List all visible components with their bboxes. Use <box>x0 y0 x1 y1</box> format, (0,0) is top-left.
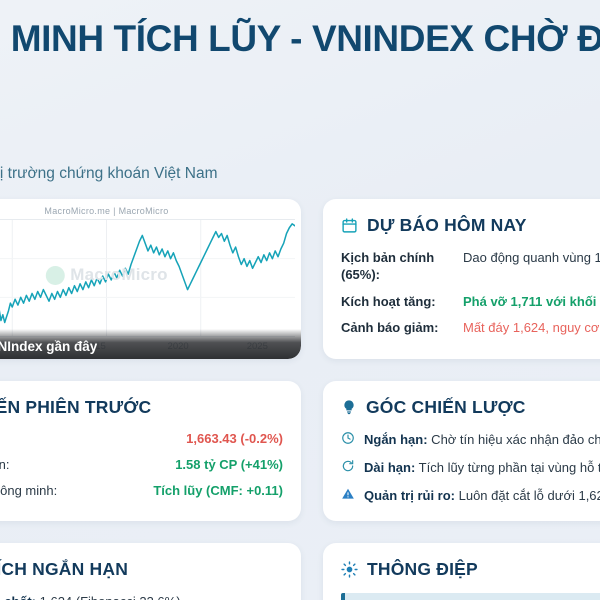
forecast-row-bull-trigger: Kích hoạt tăng: Phá vỡ 1,711 với khối lư… <box>341 293 600 311</box>
poster-header: BÌNH MINH TÍCH LŨY - VNINDEX CHỜ ĐỢI BỨT… <box>0 18 600 183</box>
message-card: THÔNG ĐIỆP "Sau những phiên sóng lặng, t… <box>323 543 600 600</box>
session-card-title: DIỄN BIẾN PHIÊN TRƯỚC <box>0 397 283 418</box>
strategy-row-short-term: Ngắn hạn: Chờ tín hiệu xác nhận đảo chiề… <box>341 431 600 449</box>
infographic-poster: BÌNH MINH TÍCH LŨY - VNINDEX CHỜ ĐỢI BỨT… <box>0 0 600 600</box>
sun-icon <box>341 561 358 578</box>
chart-caption: Diễn biến VNIndex gần đây <box>0 329 301 359</box>
clock-icon <box>341 431 355 445</box>
strategy-card: GÓC CHIẾN LƯỢC Ngắn hạn: Chờ tín hiệu xá… <box>323 381 600 521</box>
message-quote: "Sau những phiên sóng lặng, thị trường đ… <box>341 593 600 600</box>
calendar-icon <box>341 217 358 234</box>
vnindex-line-chart <box>0 220 295 336</box>
page-title: BÌNH MINH TÍCH LŨY - VNINDEX CHỜ ĐỢI BỨT… <box>0 18 600 147</box>
session-title-text: DIỄN BIẾN PHIÊN TRƯỚC <box>0 397 151 418</box>
strategy-row-long-term: Dài hạn: Tích lũy từng phần tại vùng hỗ … <box>341 459 600 477</box>
chart-card: MacroMicro.me | MacroMicro MacroMicro <box>0 199 301 359</box>
analysis-card-title: PHÂN TÍCH NGẮN HẠN <box>0 559 283 580</box>
session-row-smart-money: Dòng tiền thông minh: Tích lũy (CMF: +0.… <box>0 483 283 498</box>
analysis-label-0: Hỗ trợ then chốt: <box>0 594 36 600</box>
forecast-value-1: Phá vỡ 1,711 với khối lượng lớn <box>463 293 600 311</box>
message-title-text: THÔNG ĐIỆP <box>367 559 478 580</box>
message-card-title: THÔNG ĐIỆP <box>341 559 600 580</box>
previous-session-card: DIỄN BIẾN PHIÊN TRƯỚC Đóng cửa: 1,663.43… <box>0 381 301 521</box>
forecast-label-0: Kịch bản chính (65%): <box>341 249 453 284</box>
strategy-label-2: Quản trị rủi ro: <box>364 488 455 503</box>
session-label-2: Dòng tiền thông minh: <box>0 483 57 498</box>
strategy-text-1: Dài hạn: Tích lũy từng phần tại vùng hỗ … <box>364 459 600 477</box>
strategy-body-1: Tích lũy từng phần tại vùng hỗ trợ mạnh <box>415 460 600 475</box>
strategy-row-risk: Quản trị rủi ro: Luôn đặt cắt lỗ dưới 1,… <box>341 487 600 505</box>
session-label-1: Thanh khoản: <box>0 457 10 472</box>
forecast-card-title: DỰ BÁO HÔM NAY <box>341 215 600 236</box>
session-value-0: 1,663.43 (-0.2%) <box>186 431 283 446</box>
session-value-1: 1.58 tỷ CP (+41%) <box>175 457 283 472</box>
forecast-card: DỰ BÁO HÔM NAY Kịch bản chính (65%): Dao… <box>323 199 600 359</box>
analysis-row-support: Hỗ trợ then chốt: 1,624 (Fibonacci 23.6%… <box>0 593 283 600</box>
chart-plot-area: MacroMicro <box>0 219 295 337</box>
analysis-title-text: PHÂN TÍCH NGẮN HẠN <box>0 559 128 580</box>
session-value-2: Tích lũy (CMF: +0.11) <box>153 483 283 498</box>
forecast-label-2: Cảnh báo giảm: <box>341 319 453 337</box>
forecast-title-text: DỰ BÁO HÔM NAY <box>367 215 527 236</box>
forecast-value-0: Dao động quanh vùng 1,640 - 1,680 <box>463 249 600 267</box>
strategy-text-0: Ngắn hạn: Chờ tín hiệu xác nhận đảo chiề… <box>364 431 600 449</box>
warning-triangle-icon <box>341 487 355 501</box>
forecast-label-1: Kích hoạt tăng: <box>341 293 453 311</box>
strategy-card-title: GÓC CHIẾN LƯỢC <box>341 397 600 418</box>
lightbulb-icon <box>341 399 357 415</box>
session-row-liquidity: Thanh khoản: 1.58 tỷ CP (+41%) <box>0 457 283 472</box>
card-grid: MacroMicro.me | MacroMicro MacroMicro <box>0 199 600 600</box>
short-term-analysis-card: PHÂN TÍCH NGẮN HẠN Hỗ trợ then chốt: 1,6… <box>0 543 301 600</box>
strategy-body-2: Luôn đặt cắt lỗ dưới 1,620 <box>455 488 600 503</box>
forecast-value-2: Mất đáy 1,624, nguy cơ về 1,600 <box>463 319 600 337</box>
strategy-label-0: Ngắn hạn: <box>364 432 428 447</box>
session-row-close: Đóng cửa: 1,663.43 (-0.2%) <box>0 431 283 446</box>
refresh-icon <box>341 459 355 473</box>
forecast-row-main-scenario: Kịch bản chính (65%): Dao động quanh vùn… <box>341 249 600 284</box>
chart-source-label: MacroMicro.me | MacroMicro <box>0 199 301 219</box>
strategy-text-2: Quản trị rủi ro: Luôn đặt cắt lỗ dưới 1,… <box>364 487 600 505</box>
page-subtitle: Nhận định thị trường chứng khoán Việt Na… <box>0 165 600 183</box>
analysis-body-0: 1,624 (Fibonacci 23.6%) <box>36 594 181 600</box>
forecast-row-bear-warning: Cảnh báo giảm: Mất đáy 1,624, nguy cơ về… <box>341 319 600 337</box>
strategy-body-0: Chờ tín hiệu xác nhận đảo chiều trên 1,6… <box>428 432 600 447</box>
strategy-title-text: GÓC CHIẾN LƯỢC <box>366 397 526 418</box>
strategy-label-1: Dài hạn: <box>364 460 415 475</box>
